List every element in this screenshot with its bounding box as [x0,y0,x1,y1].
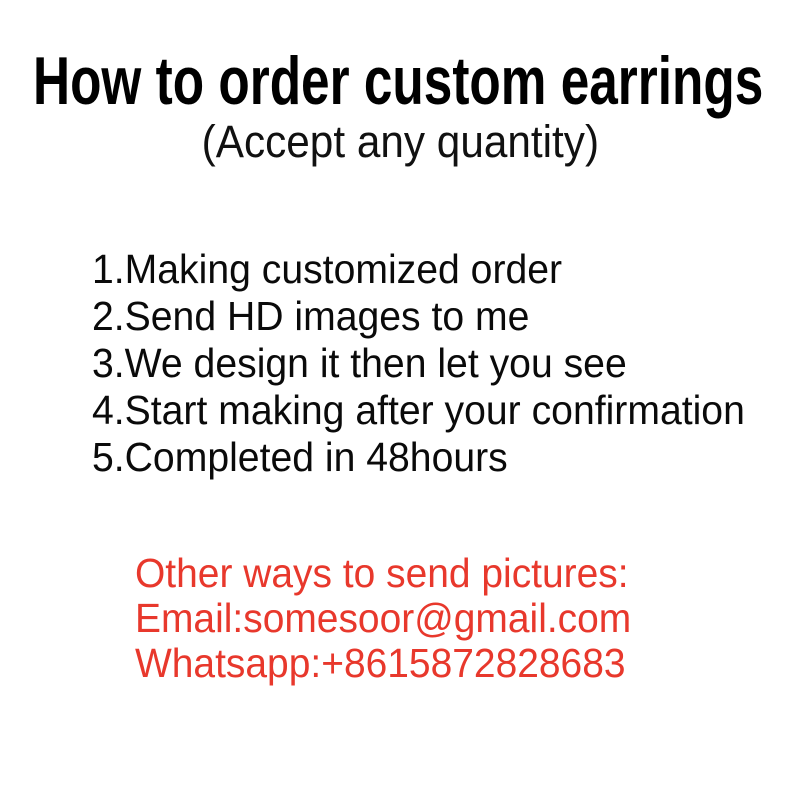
list-item: 3.We design it then let you see [92,340,761,387]
list-item: 5.Completed in 48hours [92,434,761,481]
subtitle-row: (Accept any quantity) [0,118,800,166]
contact-block: Other ways to send pictures: Email:somes… [135,551,795,686]
contact-whatsapp[interactable]: Whatsapp:+8615872828683 [135,641,762,686]
list-item: 2.Send HD images to me [92,293,761,340]
title-row: How to order custom earrings [0,50,800,112]
order-instructions-infographic: How to order custom earrings (Accept any… [0,0,800,800]
contact-heading: Other ways to send pictures: [135,551,762,596]
steps-list: 1.Making customized order 2.Send HD imag… [92,246,792,481]
list-item: 1.Making customized order [92,246,761,293]
page-subtitle: (Accept any quantity) [201,118,598,166]
contact-email[interactable]: Email:somesoor@gmail.com [135,596,762,641]
page-title: How to order custom earrings [33,50,763,112]
list-item: 4.Start making after your confirmation [92,387,761,434]
